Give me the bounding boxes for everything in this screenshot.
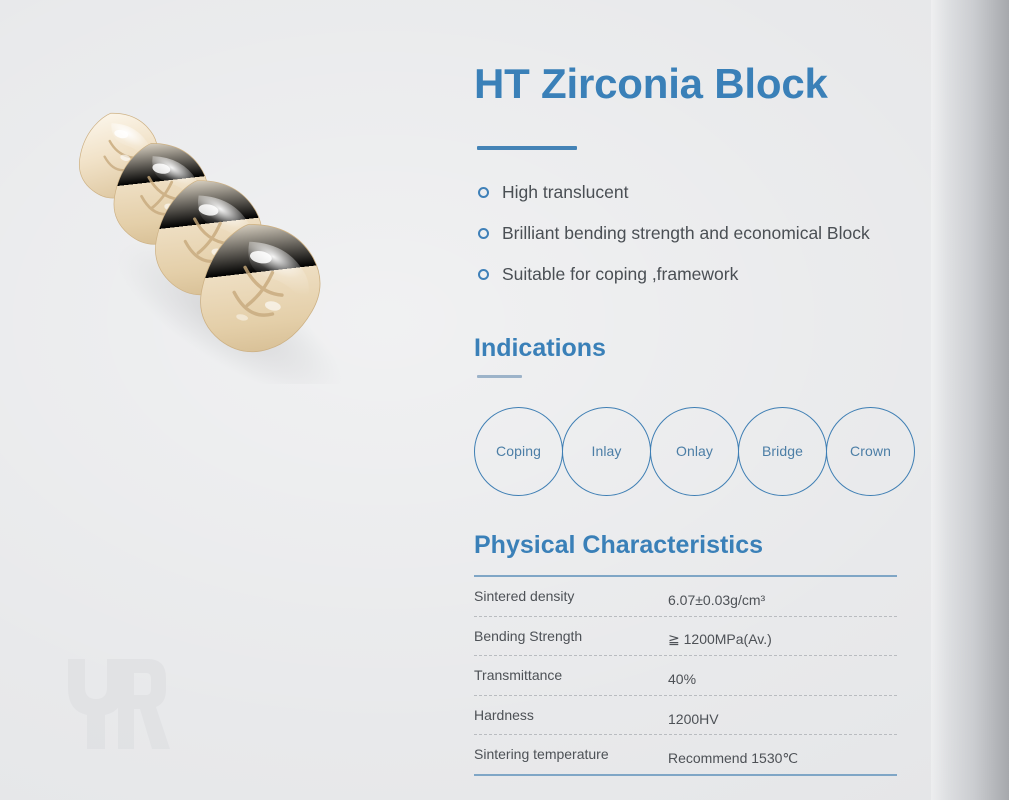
indication-circle-inlay: Inlay (562, 407, 651, 496)
bullet-ring-icon (478, 187, 489, 198)
feature-list: High translucent Brilliant bending stren… (476, 180, 896, 287)
feature-label: Suitable for coping ,framework (502, 264, 738, 284)
spec-value: ≧ 1200MPa(Av.) (668, 623, 897, 648)
brand-watermark-yr (60, 645, 172, 751)
indication-circle-crown: Crown (826, 407, 915, 496)
table-row: Bending Strength ≧ 1200MPa(Av.) (474, 617, 897, 657)
indication-circle-coping: Coping (474, 407, 563, 496)
indications-circle-row: Coping Inlay Onlay Bridge Crown (474, 404, 926, 498)
indication-circle-onlay: Onlay (650, 407, 739, 496)
spec-name: Sintered density (474, 588, 668, 604)
product-info-column: HT Zirconia Block High translucent Brill… (474, 0, 934, 800)
feature-item: Suitable for coping ,framework (476, 262, 896, 287)
spec-value: Recommend 1530℃ (668, 742, 897, 767)
bullet-ring-icon (478, 269, 489, 280)
physical-characteristics-heading: Physical Characteristics (474, 531, 763, 560)
spec-value: 1200HV (668, 703, 897, 727)
feature-item: Brilliant bending strength and economica… (476, 221, 896, 246)
spec-name: Hardness (474, 707, 668, 723)
spec-value: 6.07±0.03g/cm³ (668, 584, 897, 608)
table-row: Transmittance 40% (474, 656, 897, 696)
product-datasheet-page: HT Zirconia Block High translucent Brill… (0, 0, 1009, 800)
spec-name: Transmittance (474, 667, 668, 683)
table-row: Sintering temperature Recommend 1530℃ (474, 735, 897, 774)
feature-label: High translucent (502, 182, 628, 202)
indication-label: Crown (850, 443, 891, 459)
feature-item: High translucent (476, 180, 896, 205)
page-title: HT Zirconia Block (474, 60, 828, 108)
indication-circle-bridge: Bridge (738, 407, 827, 496)
table-row: Sintered density 6.07±0.03g/cm³ (474, 577, 897, 617)
indications-underline-rule (477, 375, 522, 378)
page-edge-shadow (931, 0, 1009, 800)
spec-name: Sintering temperature (474, 746, 668, 762)
feature-label: Brilliant bending strength and economica… (502, 223, 870, 243)
indication-label: Coping (496, 443, 541, 459)
indication-label: Inlay (591, 443, 621, 459)
indication-label: Bridge (762, 443, 803, 459)
product-photo-dental-bridge (58, 88, 392, 384)
table-row: Hardness 1200HV (474, 696, 897, 736)
title-underline-rule (477, 146, 577, 150)
physical-characteristics-table: Sintered density 6.07±0.03g/cm³ Bending … (474, 575, 897, 776)
bullet-ring-icon (478, 228, 489, 239)
spec-name: Bending Strength (474, 628, 668, 644)
indication-label: Onlay (676, 443, 713, 459)
spec-value: 40% (668, 663, 897, 687)
indications-heading: Indications (474, 334, 606, 363)
